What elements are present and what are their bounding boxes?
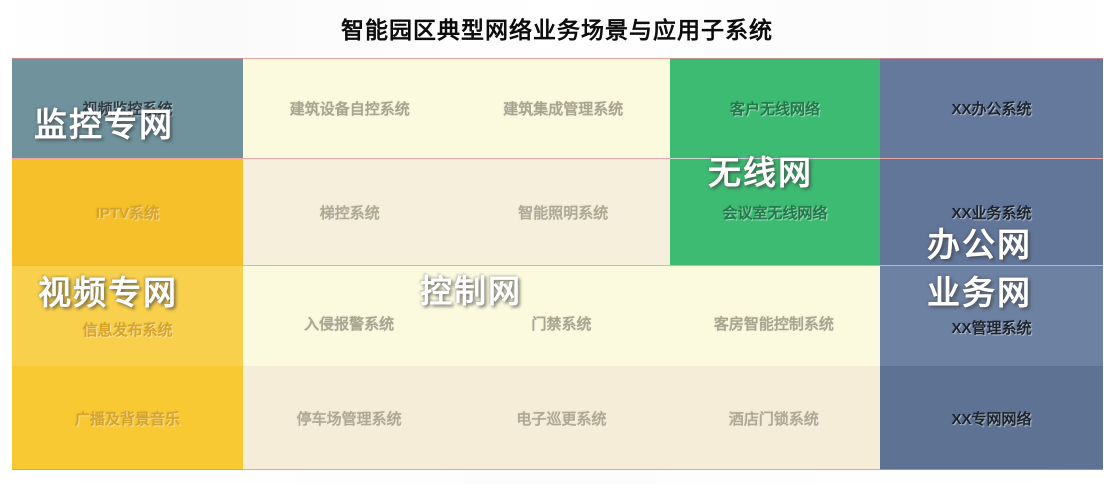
cell-label: 智能照明系统 xyxy=(518,202,608,223)
title-bar: 智能园区典型网络业务场景与应用子系统 xyxy=(0,0,1114,56)
cell-label: 酒店门锁系统 xyxy=(729,408,819,429)
cell-smart-lighting-system[interactable]: 智能照明系统 xyxy=(457,202,671,223)
cell-information-release-system[interactable]: 信息发布系统 xyxy=(12,266,243,366)
cell-intrusion-alarm-system[interactable]: 入侵报警系统 xyxy=(243,299,455,334)
row2-control-cells[interactable]: 梯控系统 智能照明系统 xyxy=(243,159,670,265)
cell-guest-wireless-network[interactable]: 客户无线网络 xyxy=(670,58,880,158)
cell-xx-office-system[interactable]: XX办公系统 xyxy=(880,58,1103,158)
cell-label: 停车场管理系统 xyxy=(297,408,402,429)
row4-control-cells[interactable]: 停车场管理系统 电子巡更系统 酒店门锁系统 xyxy=(243,366,880,470)
cell-label: XX业务系统 xyxy=(951,202,1031,223)
cell-broadcast-background-music[interactable]: 广播及背景音乐 xyxy=(12,366,243,470)
footer-strip xyxy=(0,470,1114,484)
cell-label: XX办公系统 xyxy=(951,98,1031,119)
row-divider-2-right xyxy=(880,265,1103,266)
cell-label: 梯控系统 xyxy=(320,202,380,223)
cell-building-integration-management[interactable]: 建筑集成管理系统 xyxy=(457,98,671,119)
cell-meeting-room-wireless-network[interactable]: 会议室无线网络 xyxy=(670,159,880,265)
cell-guest-room-smart-control-system[interactable]: 客房智能控制系统 xyxy=(668,299,880,334)
cell-label: 广播及背景音乐 xyxy=(75,408,180,429)
cell-electronic-patrol-system[interactable]: 电子巡更系统 xyxy=(455,408,667,429)
row-divider-1-mid xyxy=(243,158,670,159)
row-divider-2-left xyxy=(12,265,243,266)
row-divider-1-left xyxy=(12,158,243,159)
cell-label: XX管理系统 xyxy=(951,317,1031,338)
row-divider-1-green xyxy=(670,158,880,159)
cell-label: IPTV系统 xyxy=(96,202,159,223)
cell-building-equipment-control[interactable]: 建筑设备自控系统 xyxy=(243,98,457,119)
cell-label: 建筑集成管理系统 xyxy=(503,98,623,119)
row-divider-2-mid xyxy=(243,265,880,266)
cell-label: XX专网网络 xyxy=(951,408,1031,429)
cell-label: 入侵报警系统 xyxy=(304,313,394,334)
cell-label: 建筑设备自控系统 xyxy=(290,98,410,119)
cell-elevator-control-system[interactable]: 梯控系统 xyxy=(243,202,457,223)
cell-hotel-door-lock-system[interactable]: 酒店门锁系统 xyxy=(668,408,880,429)
grid-top-border xyxy=(12,58,1103,59)
row-divider-1-right xyxy=(880,158,1103,159)
diagram-page: 智能园区典型网络业务场景与应用子系统 视频监控系统 建筑设备自控系统 建筑集成管… xyxy=(0,0,1114,484)
cell-surveillance-system[interactable]: 视频监控系统 xyxy=(12,58,243,158)
cell-xx-business-system[interactable]: XX业务系统 xyxy=(880,159,1103,265)
cell-xx-private-network[interactable]: XX专网网络 xyxy=(880,366,1103,470)
cell-label: 门禁系统 xyxy=(531,313,591,334)
cell-label: 电子巡更系统 xyxy=(516,408,606,429)
cell-label: 会议室无线网络 xyxy=(722,202,827,223)
cell-xx-management-system[interactable]: XX管理系统 xyxy=(880,266,1103,366)
cell-iptv-system[interactable]: IPTV系统 xyxy=(12,159,243,265)
cell-label: 视频监控系统 xyxy=(82,98,172,119)
page-title: 智能园区典型网络业务场景与应用子系统 xyxy=(341,11,773,45)
cell-access-control-system[interactable]: 门禁系统 xyxy=(455,299,667,334)
cell-label: 客房智能控制系统 xyxy=(714,313,834,334)
row3-control-cells[interactable]: 入侵报警系统 门禁系统 客房智能控制系统 xyxy=(243,266,880,366)
row1-control-cells[interactable]: 建筑设备自控系统 建筑集成管理系统 xyxy=(243,58,670,158)
cell-label: 信息发布系统 xyxy=(82,319,172,340)
cell-label: 客户无线网络 xyxy=(730,98,820,119)
systems-grid: 视频监控系统 建筑设备自控系统 建筑集成管理系统 客户无线网络 XX办公系统 I… xyxy=(12,58,1103,470)
cell-parking-management-system[interactable]: 停车场管理系统 xyxy=(243,408,455,429)
